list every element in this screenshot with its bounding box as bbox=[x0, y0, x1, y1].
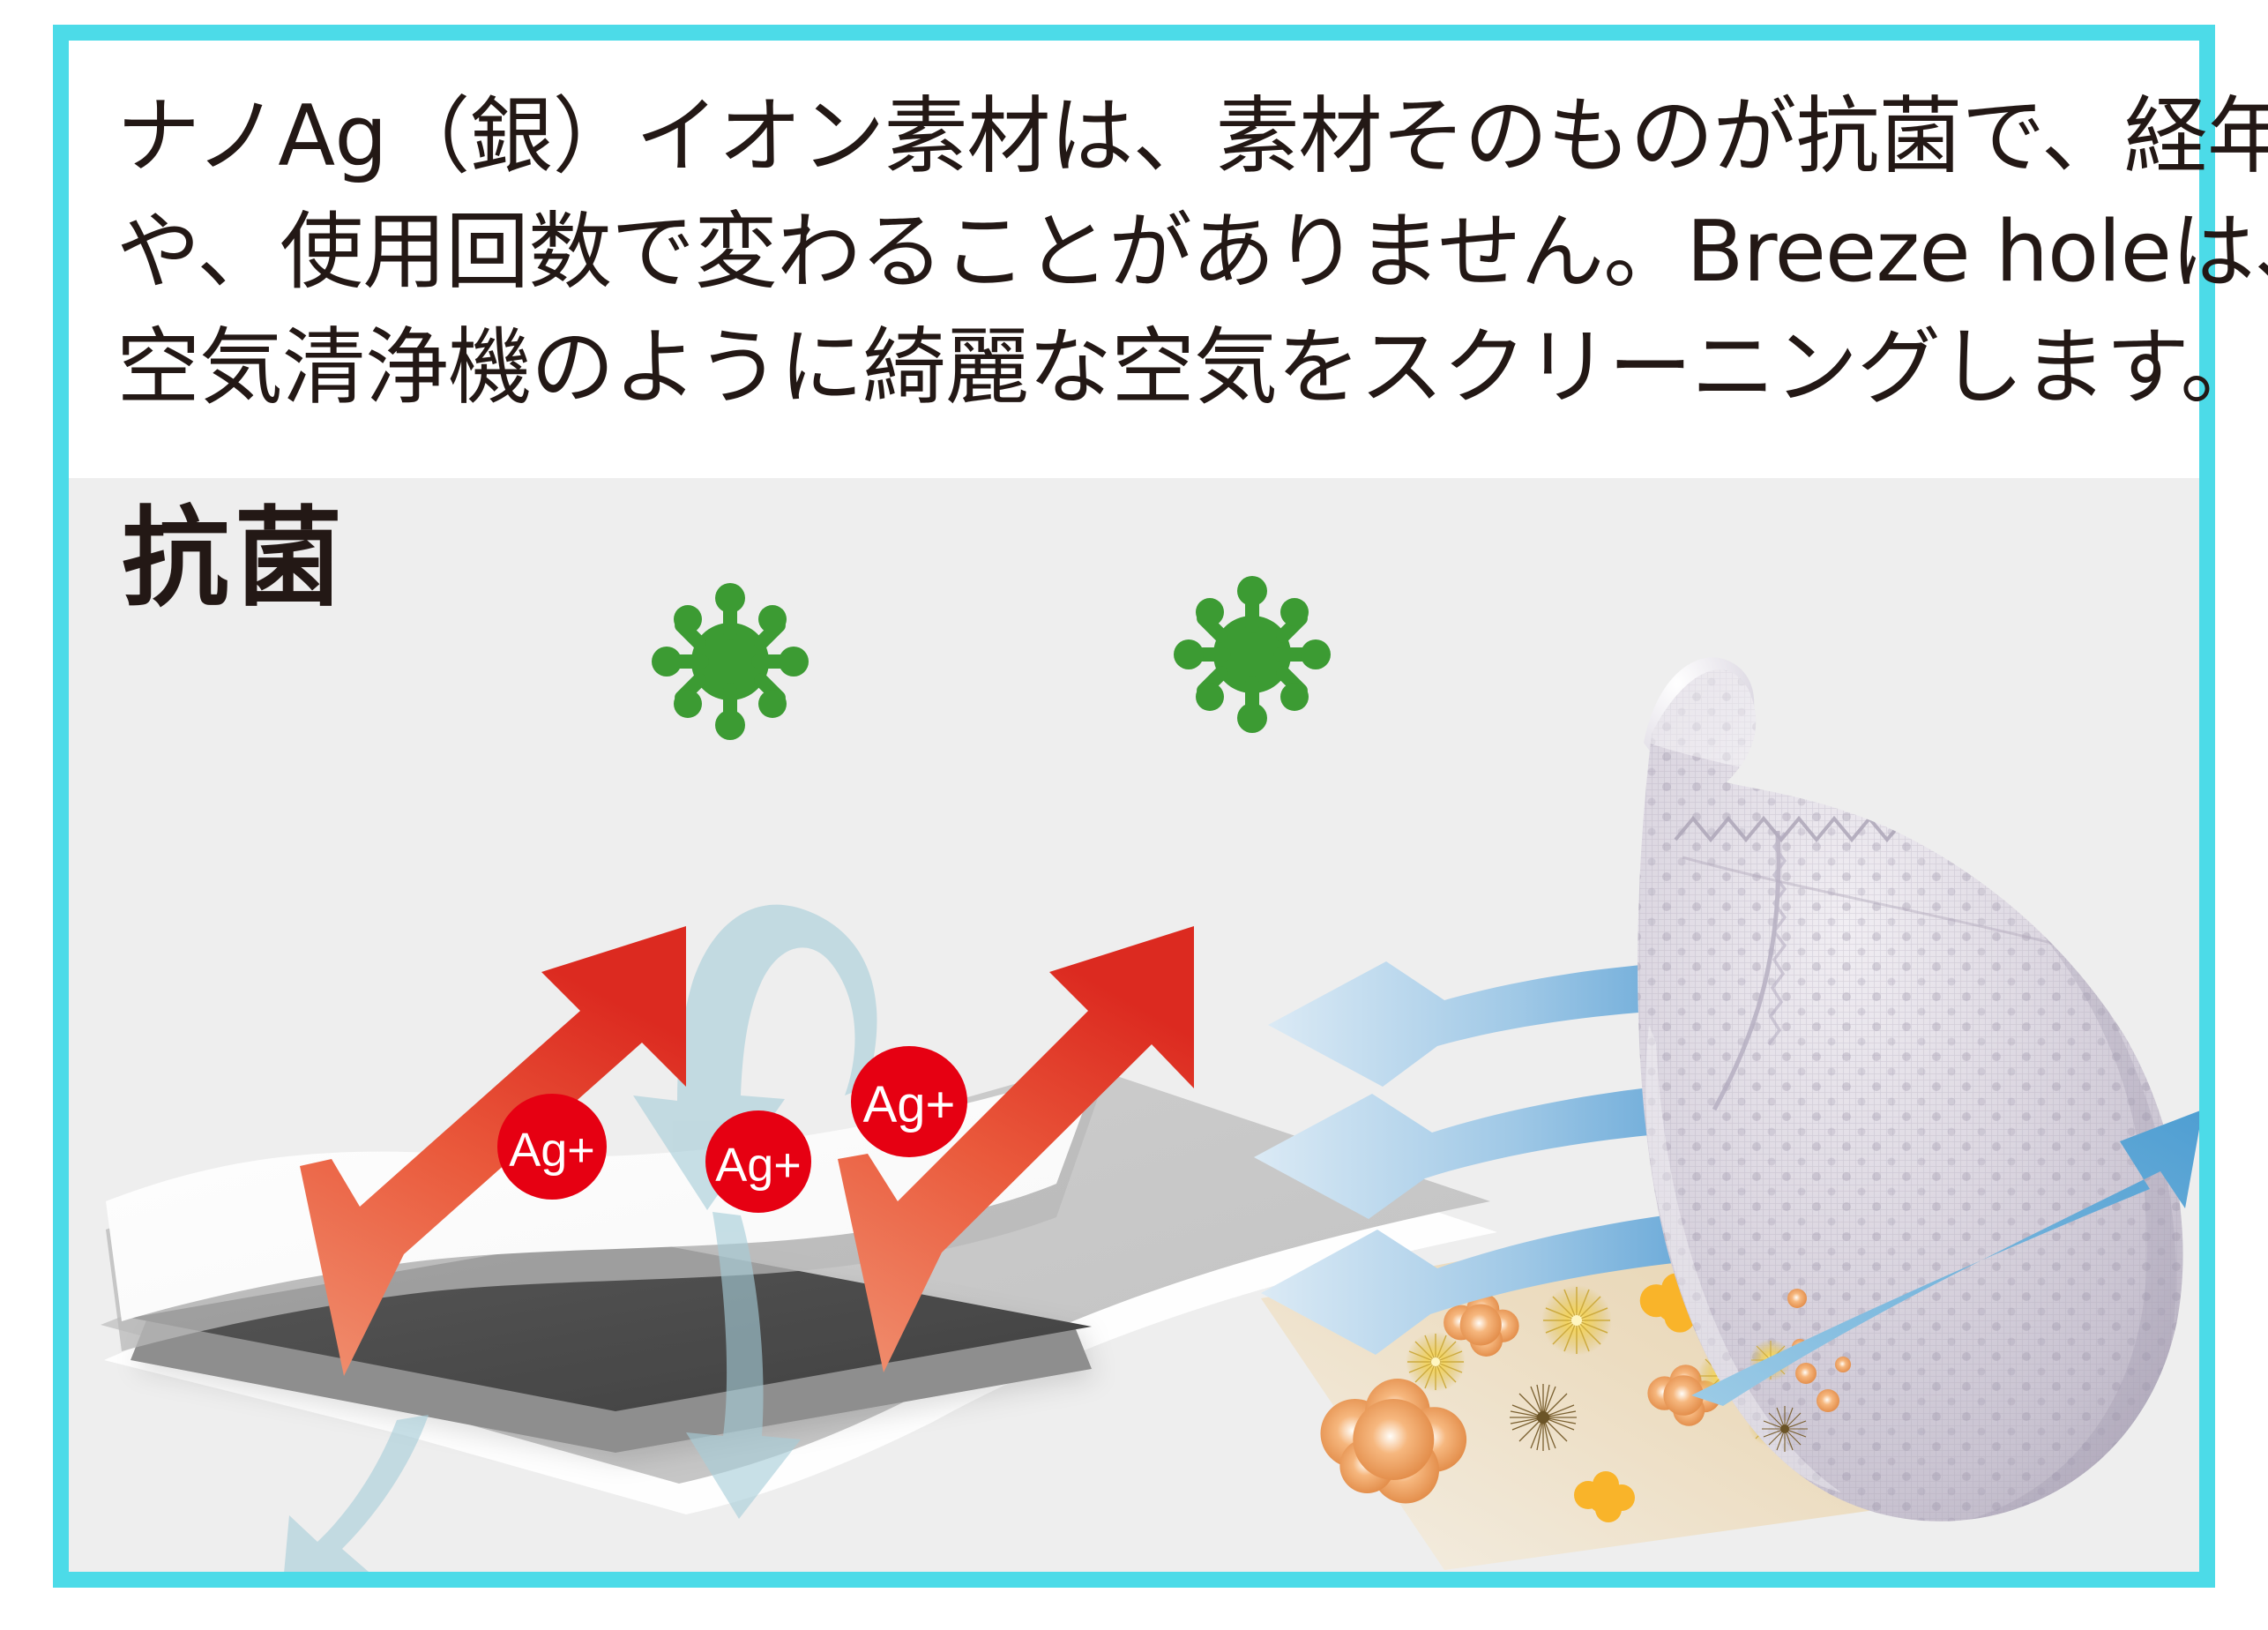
ion-badge-label: Ag+ bbox=[715, 1139, 802, 1192]
illustration-panel: 抗菌 bbox=[69, 478, 2199, 1572]
headline-line-1: ナノAg（銀）イオン素材は、素材そのものが抗菌で、経年 bbox=[116, 79, 2152, 195]
ion-badge-label: Ag+ bbox=[509, 1124, 595, 1177]
illustration-graphics: Ag+ Ag+ Ag+ bbox=[69, 478, 2199, 1572]
ion-badge-1: Ag+ bbox=[497, 1094, 607, 1200]
headline-line-2: や、使用回数で変わることがありません。Breeze holeは、 bbox=[116, 195, 2152, 310]
blue-escape-arrow bbox=[280, 1415, 429, 1572]
pollen-sunburst-brown-1 bbox=[1510, 1384, 1577, 1451]
ion-badge-3: Ag+ bbox=[851, 1046, 967, 1157]
headline-block: ナノAg（銀）イオン素材は、素材そのものが抗菌で、経年 や、使用回数で変わること… bbox=[69, 41, 2199, 478]
virus-icon-right bbox=[1174, 576, 1331, 733]
pollen-sunburst-yellow-1 bbox=[1406, 1332, 1466, 1392]
poster-frame: ナノAg（銀）イオン素材は、素材そのものが抗菌で、経年 や、使用回数で変わること… bbox=[53, 25, 2215, 1588]
virus-icon-left bbox=[652, 583, 809, 740]
pollen-sunburst-yellow-2 bbox=[1541, 1285, 1612, 1356]
poster-root: ナノAg（銀）イオン素材は、素材そのものが抗菌で、経年 や、使用回数で変わること… bbox=[0, 0, 2268, 1630]
ion-badge-label: Ag+ bbox=[863, 1076, 956, 1133]
headline-line-3: 空気清浄機のように綺麗な空気をスクリーニングします。 bbox=[116, 310, 2152, 426]
ion-badge-2: Ag+ bbox=[705, 1110, 811, 1213]
